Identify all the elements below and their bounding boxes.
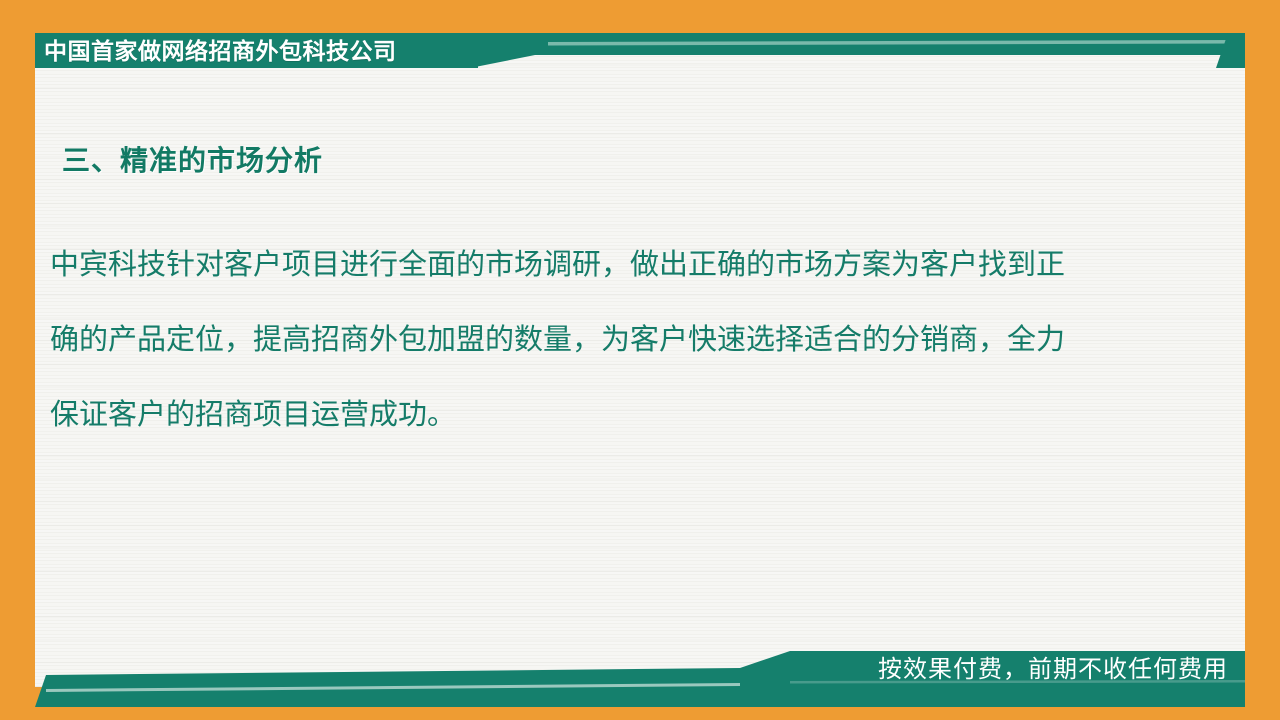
header-title: 中国首家做网络招商外包科技公司 (44, 36, 474, 66)
presentation-slide: 中国首家做网络招商外包科技公司 三、精准的市场分析 中宾科技针对客户项目进行全面… (0, 0, 1280, 720)
body-paragraph: 中宾科技针对客户项目进行全面的市场调研，做出正确的市场方案为客户找到正 确的产品… (50, 228, 1186, 453)
footer-tagline: 按效果付费，前期不收任何费用 (878, 655, 1228, 685)
body-line: 确的产品定位，提高招商外包加盟的数量，为客户快速选择适合的分销商，全力 (50, 303, 1186, 378)
section-heading: 三、精准的市场分析 (62, 139, 323, 179)
body-line: 保证客户的招商项目运营成功。 (50, 378, 1186, 453)
body-line: 中宾科技针对客户项目进行全面的市场调研，做出正确的市场方案为客户找到正 (50, 228, 1186, 303)
